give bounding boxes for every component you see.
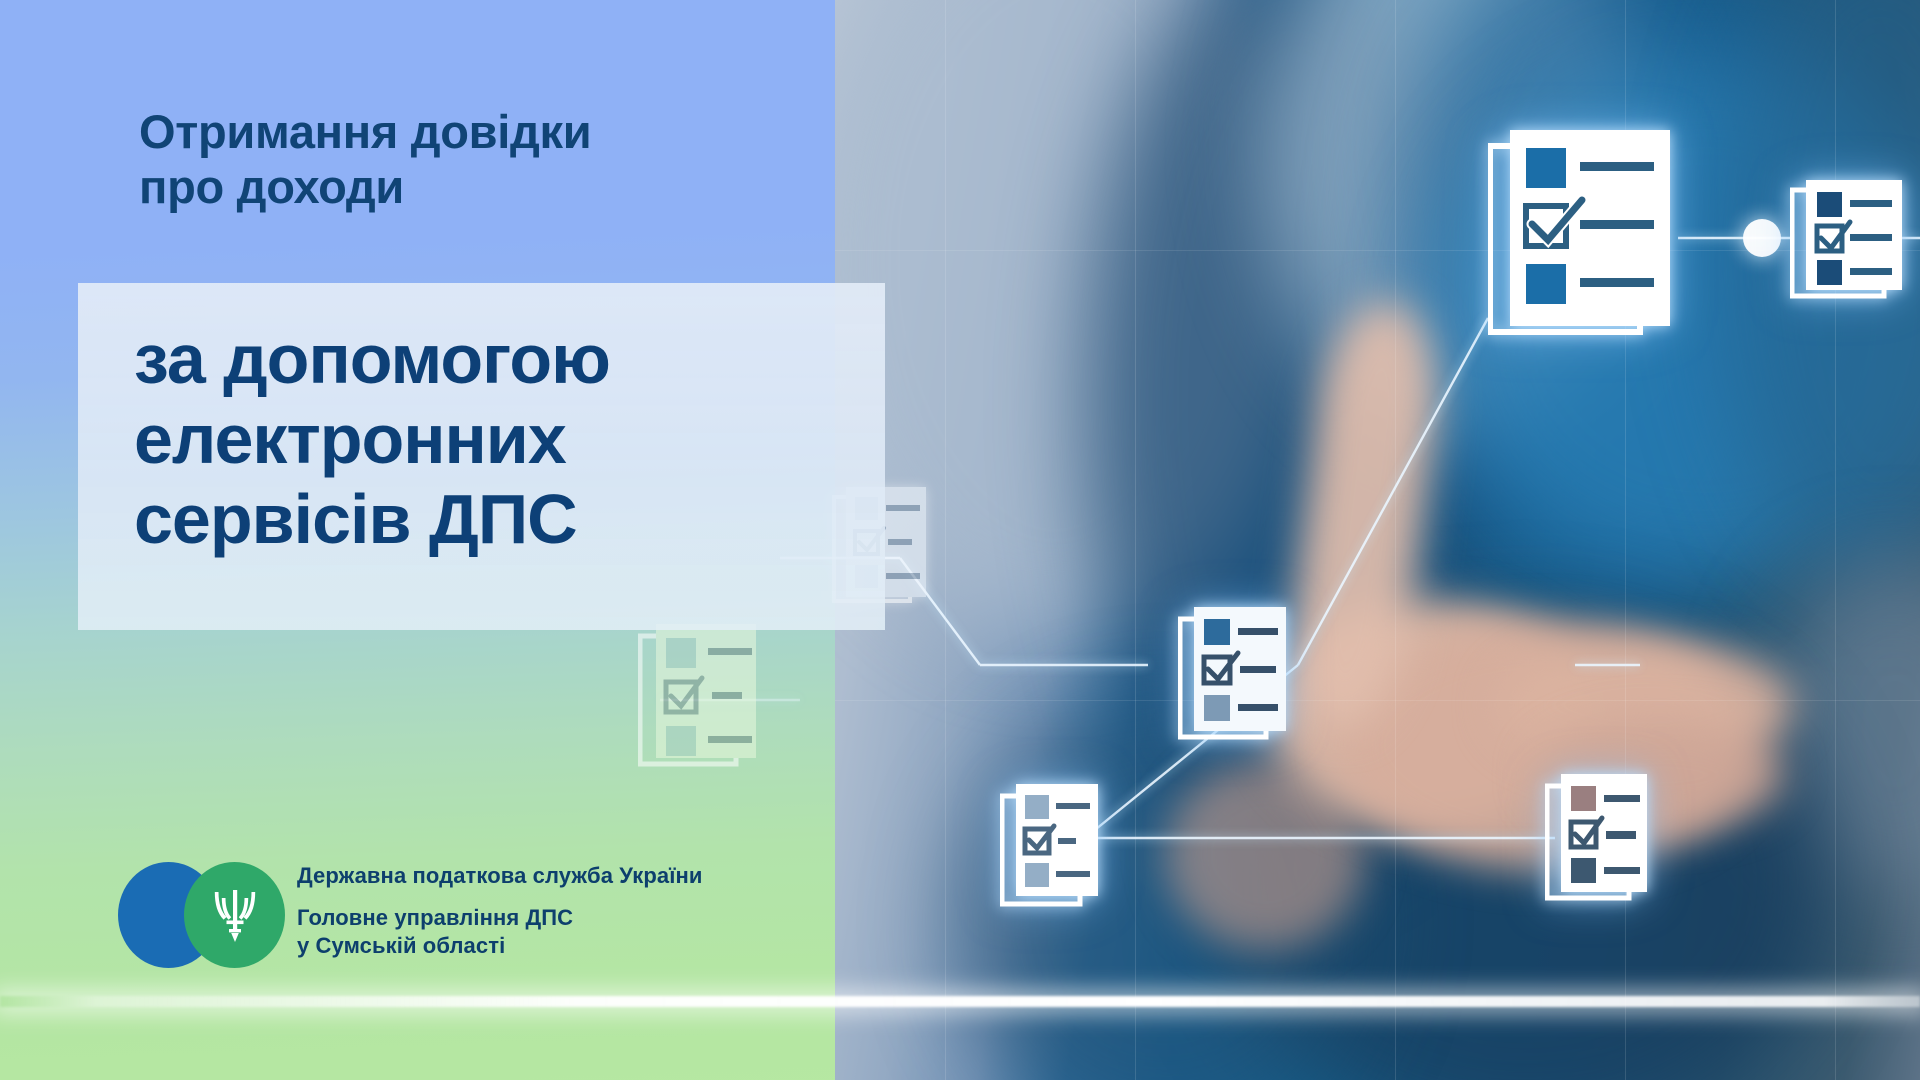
doc-bottom-right-icon <box>1545 772 1660 912</box>
logo-emblem <box>118 856 278 974</box>
organization-logo: Державна податкова служба України Головн… <box>118 856 703 974</box>
page-kicker: Отримання довідки про доходи <box>139 104 839 215</box>
org-name-line-1: Державна податкова служба України <box>297 862 703 890</box>
doc-top-right-icon <box>1790 178 1920 308</box>
kicker-line-1: Отримання довідки <box>139 104 839 159</box>
org-name-line-2: Головне управління ДПС <box>297 904 703 933</box>
banner-canvas: Отримання довідки про доходи за допомого… <box>0 0 1920 1080</box>
kicker-line-2: про доходи <box>139 159 839 214</box>
photo-grid-line-v2 <box>1135 0 1136 1080</box>
page-title: за допомогою електронних сервісів ДПС <box>134 320 894 559</box>
photo-grid-line-h1 <box>835 250 1920 251</box>
photo-grid-line-h2 <box>835 700 1920 701</box>
photo-grid-line-v3 <box>1395 0 1396 1080</box>
tryzub-trident-icon <box>214 886 256 944</box>
horizontal-light-beam <box>0 996 1920 1007</box>
doc-main-top-icon <box>1488 128 1678 343</box>
green-circle-icon <box>184 862 285 968</box>
photo-grid-line-v5 <box>1835 0 1836 1080</box>
title-line-1: за допомогою <box>134 320 894 400</box>
title-line-3: сервісів ДПС <box>134 480 894 560</box>
org-name-line-3: у Сумській області <box>297 932 703 961</box>
doc-green-tint-icon <box>638 622 773 782</box>
title-line-2: електронних <box>134 400 894 480</box>
doc-mid-center-icon <box>1178 605 1298 750</box>
doc-bottom-left-icon <box>1000 782 1110 917</box>
hero-photo <box>835 0 1920 1080</box>
logo-text-block: Державна податкова служба України Головн… <box>297 856 703 961</box>
photo-grid-line-v1 <box>945 0 946 1080</box>
